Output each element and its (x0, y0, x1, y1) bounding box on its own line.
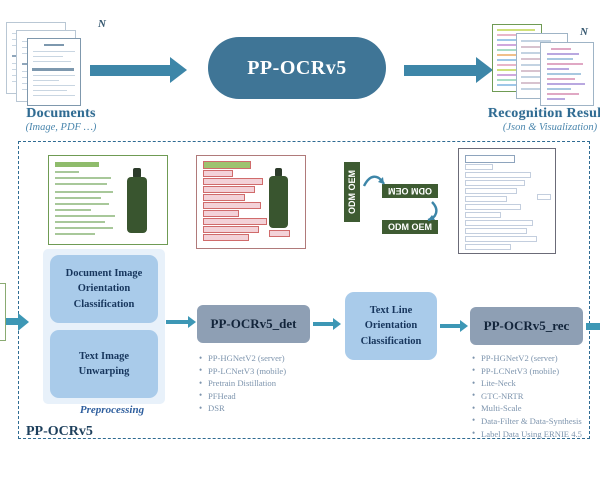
main-pipeline-capsule[interactable]: PP-OCRv5 (208, 37, 386, 99)
preprocessing-caption: Preprocessing (52, 404, 172, 416)
list-item: Pretrain Distillation (208, 377, 338, 390)
pipeline-name-label: PP-OCRv5 (26, 424, 93, 440)
list-item: Multi-Scale (481, 402, 600, 415)
text-image-unwarping-box[interactable]: Text Image Unwarping (50, 330, 158, 398)
input-sublabel: (Image, PDF …) (0, 122, 122, 133)
list-item: PP-LCNetV3 (mobile) (208, 365, 338, 378)
input-count-badge: N (98, 18, 106, 30)
detection-model-box[interactable]: PP-OCRv5_det (197, 305, 310, 343)
result-page-front (540, 42, 594, 106)
list-item: PP-LCNetV3 (mobile) (481, 365, 600, 378)
list-item: PP-HGNetV2 (server) (208, 352, 338, 365)
detection-result-thumbnail (196, 155, 306, 249)
main-pipeline-label: PP-OCRv5 (247, 57, 347, 80)
text-line-orientation-label: Text Line Orientation Classification (361, 303, 422, 349)
text-line-orientation-classification-box[interactable]: Text Line Orientation Classification (345, 292, 437, 360)
document-image-orientation-classification-box[interactable]: Document Image Orientation Classificatio… (50, 255, 158, 323)
pipeline-exit-arrow (586, 318, 600, 336)
input-arrow (90, 57, 188, 83)
det-to-text-line-orientation-arrow (313, 318, 345, 330)
output-label: Recognition Results (480, 106, 600, 122)
list-item: PFHead (208, 390, 338, 403)
recognition-bullet-list: PP-HGNetV2 (server) PP-LCNetV3 (mobile) … (481, 352, 600, 440)
list-item: GTC-NRTR (481, 390, 600, 403)
list-item: Lite-Neck (481, 377, 600, 390)
recognition-result-thumbnail (458, 148, 556, 254)
output-sublabel: (Json & Visualization) (480, 122, 600, 133)
input-label: Documents (0, 106, 122, 122)
detection-model-label: PP-OCRv5_det (211, 316, 297, 332)
text-line-orientation-illustration: ODM OEM ODM OEM ODM OEM (340, 160, 450, 238)
left-edge-green-marker (0, 283, 6, 341)
output-count-badge: N (580, 26, 588, 38)
diagram-canvas: N Documents (Image, PDF …) PP-OCRv5 (0, 0, 600, 500)
document-page-front (27, 38, 81, 106)
doc-orientation-box-label: Document Image Orientation Classificatio… (66, 266, 143, 312)
list-item: Data-Filter & Data-Synthesis (481, 415, 600, 428)
recognition-model-box[interactable]: PP-OCRv5_rec (470, 307, 583, 345)
rotation-curve-icons (340, 160, 450, 238)
list-item: PP-HGNetV2 (server) (481, 352, 600, 365)
recognition-model-label: PP-OCRv5_rec (484, 318, 570, 334)
detection-bullet-list: PP-HGNetV2 (server) PP-LCNetV3 (mobile) … (208, 352, 338, 415)
text-unwarping-box-label: Text Image Unwarping (79, 349, 130, 379)
text-line-orientation-to-rec-arrow (440, 320, 472, 332)
list-item: DSR (208, 402, 338, 415)
input-document-thumbnail (48, 155, 168, 245)
preprocessing-to-det-arrow (166, 316, 200, 328)
list-item: Label Data Using ERNIE 4.5 (481, 428, 600, 441)
output-arrow (404, 57, 494, 83)
